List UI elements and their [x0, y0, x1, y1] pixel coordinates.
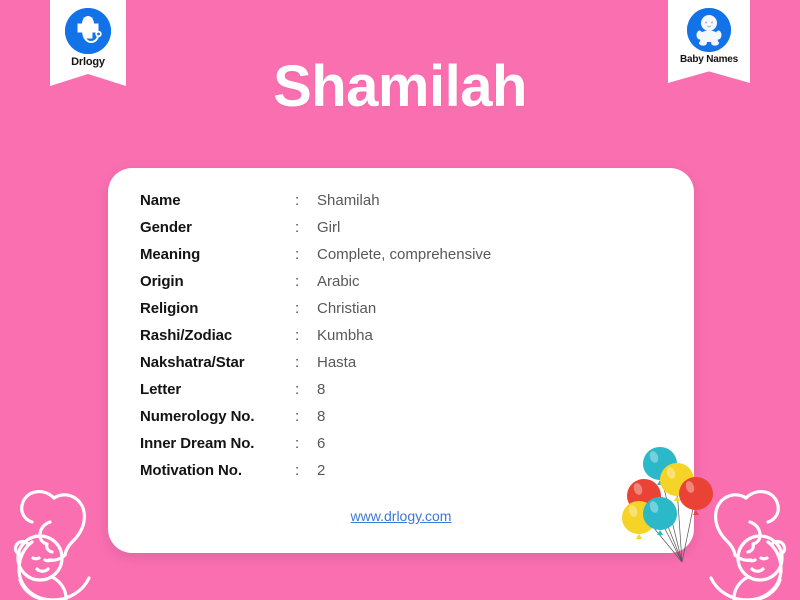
- row-separator: :: [295, 273, 317, 290]
- baby-names-badge[interactable]: Baby Names: [668, 0, 750, 83]
- row-separator: :: [295, 219, 317, 236]
- table-row: Inner Dream No. : 6: [140, 435, 491, 462]
- baby-icon: [687, 8, 731, 52]
- row-value: Girl: [317, 219, 340, 236]
- name-details-table: Name : Shamilah Gender : Girl Meaning : …: [140, 192, 491, 489]
- drlogy-badge-label: Drlogy: [54, 57, 122, 68]
- baby-names-badge-label: Baby Names: [672, 55, 746, 65]
- row-separator: :: [295, 246, 317, 263]
- row-value: 8: [317, 408, 325, 425]
- corner-decoration-left: [0, 470, 112, 600]
- table-row: Meaning : Complete, comprehensive: [140, 246, 491, 273]
- row-label: Religion: [140, 300, 295, 317]
- row-value: Complete, comprehensive: [317, 246, 491, 263]
- drlogy-badge-body[interactable]: Drlogy: [50, 0, 126, 86]
- row-value: Kumbha: [317, 327, 373, 344]
- website-link[interactable]: www.drlogy.com: [108, 508, 694, 524]
- row-value: 2: [317, 462, 325, 479]
- table-row: Letter : 8: [140, 381, 491, 408]
- row-label: Nakshatra/Star: [140, 354, 295, 371]
- row-separator: :: [295, 381, 317, 398]
- row-separator: :: [295, 327, 317, 344]
- row-value: 8: [317, 381, 325, 398]
- row-value: Arabic: [317, 273, 360, 290]
- row-separator: :: [295, 435, 317, 452]
- table-row: Nakshatra/Star : Hasta: [140, 354, 491, 381]
- row-separator: :: [295, 300, 317, 317]
- table-row: Numerology No. : 8: [140, 408, 491, 435]
- row-label: Inner Dream No.: [140, 435, 295, 452]
- row-value: Hasta: [317, 354, 356, 371]
- baby-names-badge-body[interactable]: Baby Names: [668, 0, 750, 83]
- row-label: Origin: [140, 273, 295, 290]
- row-value: Christian: [317, 300, 376, 317]
- row-separator: :: [295, 354, 317, 371]
- row-label: Meaning: [140, 246, 295, 263]
- table-row: Rashi/Zodiac : Kumbha: [140, 327, 491, 354]
- row-label: Name: [140, 192, 295, 209]
- row-separator: :: [295, 192, 317, 209]
- row-label: Letter: [140, 381, 295, 398]
- corner-decoration-right: [688, 470, 800, 600]
- table-row: Motivation No. : 2: [140, 462, 491, 489]
- row-label: Gender: [140, 219, 295, 236]
- drlogy-badge[interactable]: Drlogy: [50, 0, 126, 86]
- row-separator: :: [295, 462, 317, 479]
- table-row: Religion : Christian: [140, 300, 491, 327]
- row-separator: :: [295, 408, 317, 425]
- row-value: Shamilah: [317, 192, 380, 209]
- doctor-cross-icon: [65, 8, 111, 54]
- row-label: Rashi/Zodiac: [140, 327, 295, 344]
- table-row: Gender : Girl: [140, 219, 491, 246]
- table-row: Origin : Arabic: [140, 273, 491, 300]
- row-label: Motivation No.: [140, 462, 295, 479]
- balloon-cluster-decoration: [620, 444, 730, 569]
- name-details-card: Name : Shamilah Gender : Girl Meaning : …: [108, 168, 694, 553]
- table-row: Name : Shamilah: [140, 192, 491, 219]
- row-label: Numerology No.: [140, 408, 295, 425]
- row-value: 6: [317, 435, 325, 452]
